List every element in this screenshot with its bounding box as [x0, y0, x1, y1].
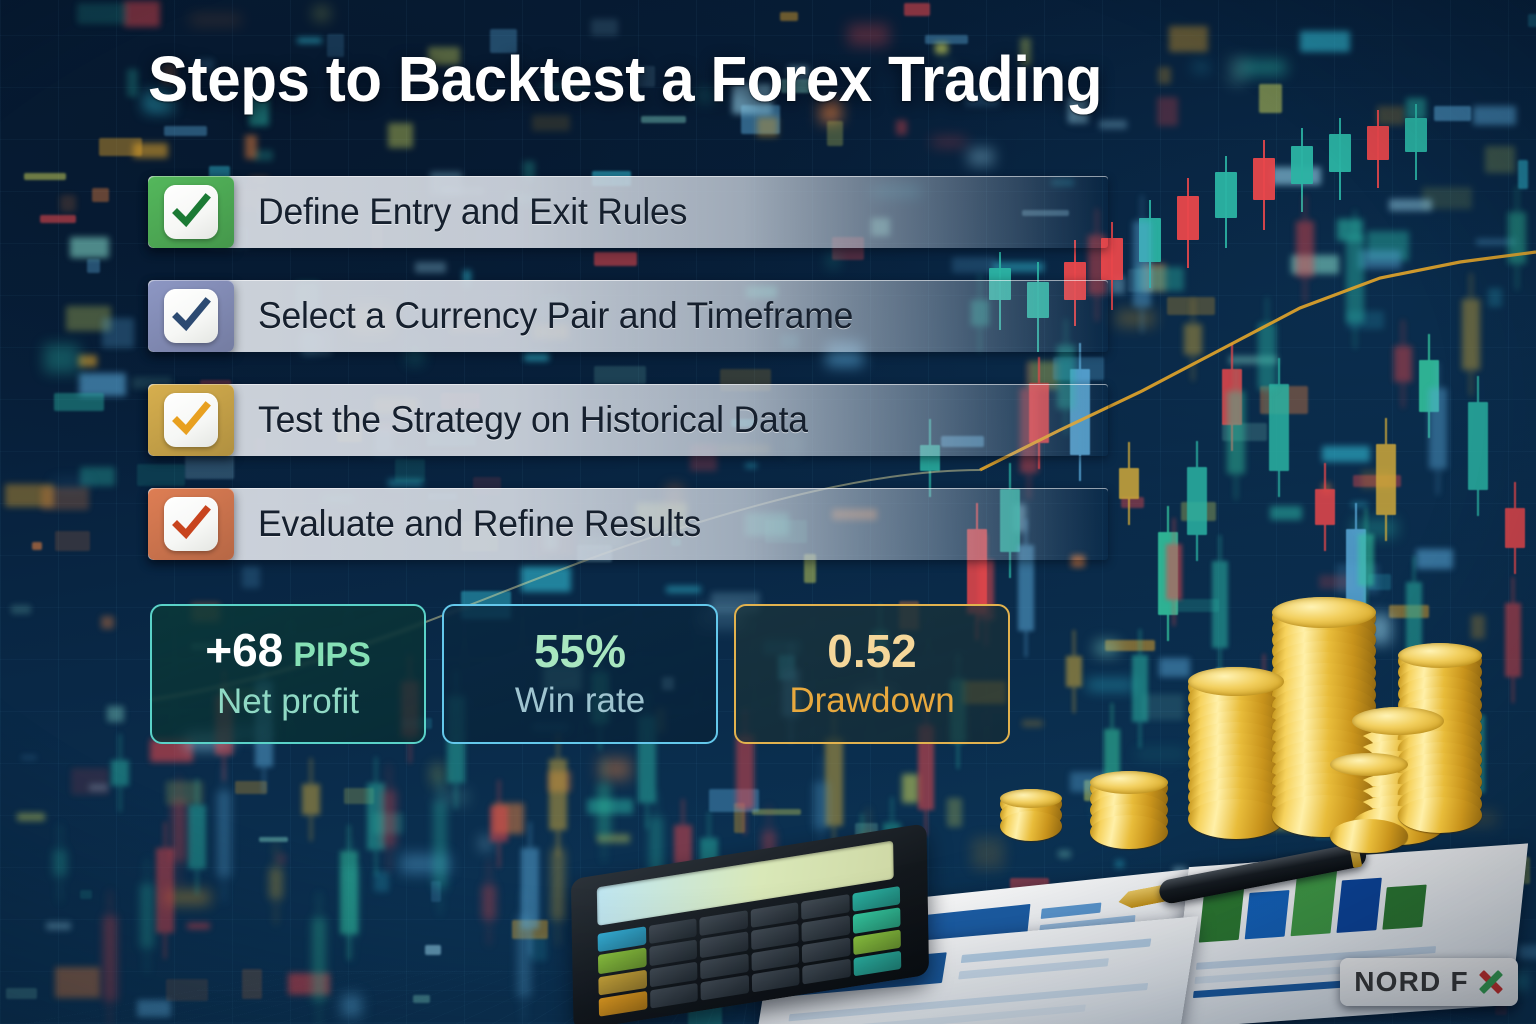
calculator-key[interactable]	[853, 950, 901, 976]
stat-label: Drawdown	[789, 682, 954, 721]
coin	[1000, 811, 1062, 841]
step-label: Define Entry and Exit Rules	[258, 191, 687, 233]
step-label: Test the Strategy on Historical Data	[258, 399, 808, 441]
coin-top-face	[1398, 643, 1482, 668]
stat-label: Win rate	[515, 682, 645, 721]
coin-top-face	[1188, 667, 1284, 696]
coin-top-face	[1000, 789, 1062, 808]
step-label: Select a Currency Pair and Timeframe	[258, 295, 853, 337]
coin-top-face	[1330, 753, 1408, 776]
calculator-key[interactable]	[751, 967, 799, 993]
brand-logo: NORD F	[1340, 958, 1518, 1006]
calculator-key[interactable]	[700, 975, 748, 1001]
stat-value: +68	[205, 627, 283, 673]
coin-top-face	[1272, 597, 1376, 628]
coin-top-face	[1090, 771, 1168, 794]
calculator-key[interactable]	[599, 991, 647, 1017]
step-row[interactable]: Select a Currency Pair and Timeframe	[148, 280, 1328, 352]
stat-value: 0.52	[827, 628, 917, 674]
checkbox-checked-icon	[164, 185, 218, 239]
brand-name: NORD F	[1354, 966, 1469, 998]
checkbox-checked-icon	[164, 497, 218, 551]
step-row[interactable]: Test the Strategy on Historical Data	[148, 384, 1328, 456]
stat-card: +68PIPSNet profit	[150, 604, 426, 744]
step-checkbox[interactable]	[148, 176, 234, 248]
stat-card: 0.52Drawdown	[734, 604, 1010, 744]
step-checkbox[interactable]	[148, 280, 234, 352]
coin-top-face	[1352, 707, 1444, 735]
infographic-canvas: Steps to Backtest a Forex Trading Define…	[0, 0, 1536, 1024]
step-checkbox[interactable]	[148, 384, 234, 456]
checkbox-checked-icon	[164, 289, 218, 343]
calculator-key[interactable]	[650, 983, 698, 1009]
step-checkbox[interactable]	[148, 488, 234, 560]
page-title: Steps to Backtest a Forex Trading	[148, 46, 1276, 113]
stat-card: 55%Win rate	[442, 604, 718, 744]
coin	[1188, 799, 1284, 839]
stat-unit: PIPS	[293, 636, 370, 675]
stat-label: Net profit	[217, 683, 359, 722]
steps-list: Define Entry and Exit RulesSelect a Curr…	[148, 176, 1328, 592]
step-row[interactable]: Define Entry and Exit Rules	[148, 176, 1328, 248]
calculator-key[interactable]	[802, 958, 850, 984]
stat-value: 55%	[534, 628, 626, 674]
step-label: Evaluate and Refine Results	[258, 503, 701, 545]
coin	[1398, 797, 1482, 833]
x-logo-icon	[1478, 969, 1504, 996]
coin	[1090, 815, 1168, 849]
stats-row: +68PIPSNet profit55%Win rate0.52Drawdown	[150, 604, 1010, 744]
coin	[1330, 819, 1408, 853]
step-row[interactable]: Evaluate and Refine Results	[148, 488, 1328, 560]
checkbox-checked-icon	[164, 393, 218, 447]
